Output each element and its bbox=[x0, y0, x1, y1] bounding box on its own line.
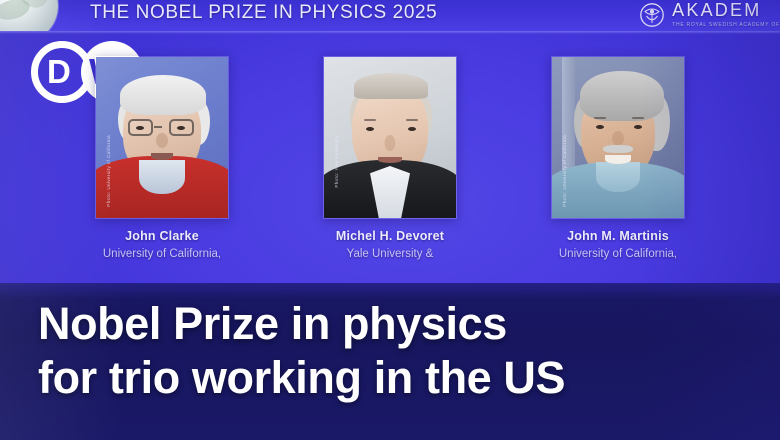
portrait-image bbox=[552, 57, 684, 218]
laureate-affiliation: Yale University & bbox=[306, 248, 474, 260]
laureate-card: Photo: Yale University Michel H. Devoret… bbox=[306, 56, 474, 260]
portrait-john-clarke: Photo: University of California bbox=[95, 56, 229, 219]
nobel-prize-header-bar: THE NOBEL PRIZE IN PHYSICS 2025 AKADEM T… bbox=[0, 0, 780, 31]
headline-line-2: for trio working in the US bbox=[38, 351, 738, 405]
laureate-card: Photo: University of California John M. … bbox=[534, 56, 702, 260]
academy-subtitle: THE ROYAL SWEDISH ACADEMY OF S bbox=[672, 23, 780, 28]
academy-name: AKADEM bbox=[672, 1, 780, 19]
nobel-prize-title: THE NOBEL PRIZE IN PHYSICS 2025 bbox=[90, 2, 437, 24]
photo-credit: Photo: Yale University bbox=[334, 135, 339, 188]
laureate-name: John M. Martinis bbox=[534, 229, 702, 243]
laureate-name: John Clarke bbox=[78, 229, 246, 243]
royal-academy-logo: AKADEM THE ROYAL SWEDISH ACADEMY OF S bbox=[639, 1, 780, 28]
photo-credit: Photo: University of California bbox=[562, 135, 567, 207]
portrait-michel-h-devoret: Photo: Yale University bbox=[323, 56, 457, 219]
laureate-affiliation: University of California, bbox=[78, 248, 246, 260]
video-frame: THE NOBEL PRIZE IN PHYSICS 2025 AKADEM T… bbox=[0, 0, 780, 440]
headline-line-1: Nobel Prize in physics bbox=[38, 297, 738, 351]
headline-banner: Nobel Prize in physics for trio working … bbox=[0, 283, 780, 440]
laureate-card: Photo: University of California John Cla… bbox=[78, 56, 246, 260]
laureate-affiliation: University of California, bbox=[534, 248, 702, 260]
laureate-name: Michel H. Devoret bbox=[306, 229, 474, 243]
portrait-image bbox=[96, 57, 228, 218]
portrait-image bbox=[324, 57, 456, 218]
laureates-row: Photo: University of California John Cla… bbox=[0, 56, 780, 284]
portrait-john-m-martinis: Photo: University of California bbox=[551, 56, 685, 219]
photo-credit: Photo: University of California bbox=[106, 135, 111, 207]
header-divider bbox=[0, 31, 780, 34]
royal-academy-crest-icon bbox=[639, 2, 665, 28]
headline: Nobel Prize in physics for trio working … bbox=[38, 297, 738, 405]
nobel-medal-icon bbox=[0, 0, 58, 31]
